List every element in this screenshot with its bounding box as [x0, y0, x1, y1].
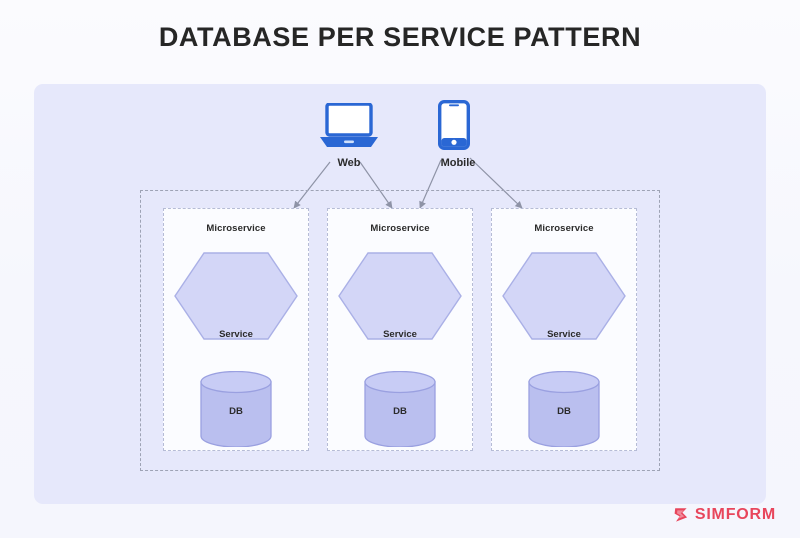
- page-title: DATABASE PER SERVICE PATTERN: [0, 22, 800, 53]
- laptop-icon: [318, 103, 380, 149]
- service-hexagon-3[interactable]: Service: [501, 251, 627, 341]
- microservice-box-2[interactable]: Microservice Service DB: [327, 208, 473, 451]
- client-label-mobile: Mobile: [418, 157, 498, 169]
- database-cylinder-1[interactable]: [199, 371, 273, 447]
- microservice-box-3[interactable]: Microservice Service DB: [491, 208, 637, 451]
- simform-logo-icon: [672, 506, 690, 524]
- database-cylinder-2[interactable]: [363, 371, 437, 447]
- brand-logo[interactable]: SIMFORM: [672, 506, 776, 524]
- database-cylinder-3[interactable]: [527, 371, 601, 447]
- client-label-web: Web: [309, 157, 389, 169]
- smartphone-icon: [438, 100, 470, 150]
- diagram-canvas: DATABASE PER SERVICE PATTERN Web: [0, 0, 800, 538]
- service-hexagon-2[interactable]: Service: [337, 251, 463, 341]
- microservice-title-3: Microservice: [492, 223, 636, 234]
- microservice-title-2: Microservice: [328, 223, 472, 234]
- microservice-title-1: Microservice: [164, 223, 308, 234]
- brand-name: SIMFORM: [695, 506, 776, 524]
- microservice-box-1[interactable]: Microservice Service DB: [163, 208, 309, 451]
- service-hexagon-1[interactable]: Service: [173, 251, 299, 341]
